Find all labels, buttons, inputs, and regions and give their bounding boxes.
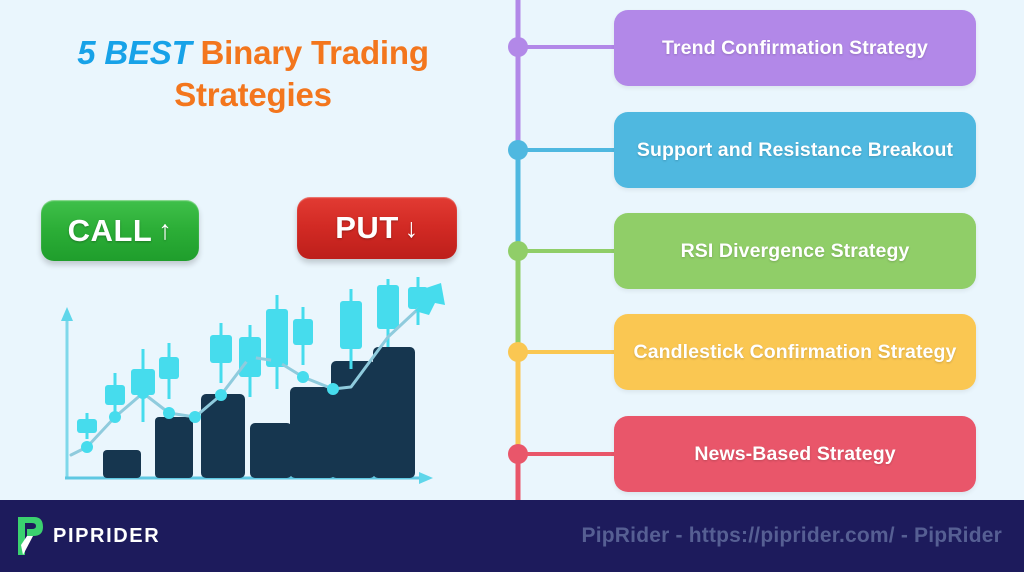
arrow-up-icon: ↑ bbox=[158, 217, 172, 244]
brand-logo[interactable]: PIPRIDER bbox=[14, 515, 160, 557]
put-button[interactable]: PUT ↓ bbox=[297, 197, 457, 259]
title-main: Binary Trading Strategies bbox=[174, 34, 429, 113]
put-button-label: PUT bbox=[335, 210, 399, 246]
strategy-card-3[interactable]: RSI Divergence Strategy bbox=[614, 213, 976, 289]
chart-svg bbox=[45, 277, 445, 499]
strategy-card-2-label: Support and Resistance Breakout bbox=[637, 138, 953, 162]
timeline-dot-4 bbox=[508, 342, 528, 362]
strategy-card-5-label: News-Based Strategy bbox=[694, 442, 895, 466]
page-title: 5 BEST Binary Trading Strategies bbox=[18, 32, 488, 116]
timeline-dot-5 bbox=[508, 444, 528, 464]
strategy-card-4[interactable]: Candlestick Confirmation Strategy bbox=[614, 314, 976, 390]
arrow-down-icon: ↓ bbox=[405, 215, 419, 242]
timeline-dot-1 bbox=[508, 37, 528, 57]
strategy-card-3-label: RSI Divergence Strategy bbox=[681, 239, 910, 263]
footer-url-text: PipRider - https://piprider.com/ - PipRi… bbox=[582, 524, 1002, 548]
timeline-dot-3 bbox=[508, 241, 528, 261]
strategy-card-4-label: Candlestick Confirmation Strategy bbox=[634, 340, 957, 364]
timeline-dot-2 bbox=[508, 140, 528, 160]
strategy-card-1[interactable]: Trend Confirmation Strategy bbox=[614, 10, 976, 86]
trading-chart-illustration bbox=[45, 277, 445, 499]
infographic-canvas: 5 BEST Binary Trading Strategies CALL ↑ … bbox=[0, 0, 1024, 572]
footer-bar: PIPRIDER PipRider - https://piprider.com… bbox=[0, 500, 1024, 572]
title-accent: 5 BEST bbox=[77, 34, 191, 71]
strategy-card-1-label: Trend Confirmation Strategy bbox=[662, 36, 928, 60]
strategy-card-5[interactable]: News-Based Strategy bbox=[614, 416, 976, 492]
left-panel: 5 BEST Binary Trading Strategies CALL ↑ … bbox=[0, 0, 505, 500]
call-button-label: CALL bbox=[68, 213, 153, 249]
strategy-card-2[interactable]: Support and Resistance Breakout bbox=[614, 112, 976, 188]
brand-name: PIPRIDER bbox=[53, 525, 160, 548]
piprider-logo-icon bbox=[14, 515, 44, 557]
strategy-timeline: Trend Confirmation Strategy Support and … bbox=[505, 0, 1024, 500]
call-button[interactable]: CALL ↑ bbox=[41, 200, 199, 261]
